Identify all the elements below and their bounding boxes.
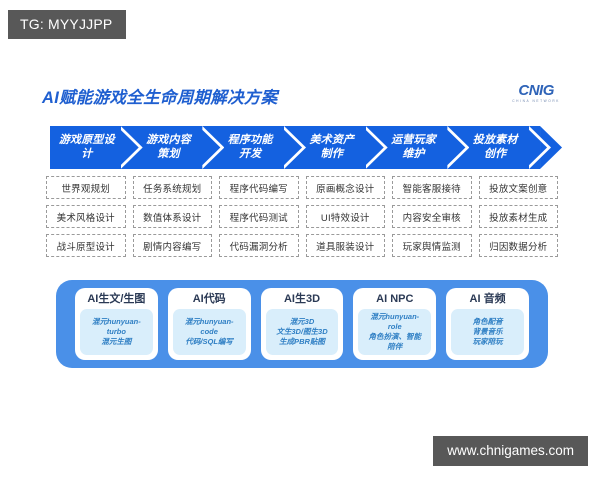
capability-cell[interactable]: 数值体系设计 <box>133 205 213 228</box>
phase-arrow-tip-icon <box>540 126 562 169</box>
ai-card-details: 混元3D文生3D/图生3D生成PBR贴图 <box>266 309 339 355</box>
phase-item-3[interactable]: 程序功能开发 <box>213 126 295 169</box>
ai-card-details: 混元hunyuan-code代码/SQL编写 <box>173 309 246 355</box>
capability-cell[interactable]: 投放素材生成 <box>479 205 559 228</box>
brand-logo-mark: CNIG <box>512 83 560 98</box>
capability-cell[interactable]: 道具服装设计 <box>306 234 386 257</box>
ai-card-4[interactable]: AI NPC 混元hunyuan-role角色扮演、智能陪伴 <box>353 288 436 360</box>
phase-item-6[interactable]: 投放素材创作 <box>458 126 540 169</box>
ai-card-1[interactable]: AI生文/生图 混元hunyuan-turbo混元生图 <box>75 288 158 360</box>
ai-card-title: AI生文/生图 <box>87 293 145 306</box>
ai-card-title: AI 音频 <box>470 293 506 306</box>
phase-item-4[interactable]: 美术资产制作 <box>295 126 377 169</box>
ai-card-title: AI代码 <box>193 293 226 306</box>
capability-cell[interactable]: 原画概念设计 <box>306 176 386 199</box>
ai-card-title: AI生3D <box>284 293 320 306</box>
capability-cell[interactable]: 美术风格设计 <box>46 205 126 228</box>
capability-cell[interactable]: 内容安全审核 <box>392 205 472 228</box>
ai-card-details: 角色配音背景音乐玩家陪玩 <box>451 309 524 355</box>
ai-card-details: 混元hunyuan-turbo混元生图 <box>80 309 153 355</box>
ai-card-2[interactable]: AI代码 混元hunyuan-code代码/SQL编写 <box>168 288 251 360</box>
phase-item-1[interactable]: 游戏原型设计 <box>50 126 132 169</box>
page-title: AI赋能游戏全生命周期解决方案 <box>42 84 278 108</box>
watermark-url: www.chnigames.com <box>433 436 588 467</box>
brand-logo-subtext: CHINA NETWORK <box>512 100 560 103</box>
capability-cell[interactable]: 战斗原型设计 <box>46 234 126 257</box>
capability-cell[interactable]: 代码漏洞分析 <box>219 234 299 257</box>
ai-model-band: AI生文/生图 混元hunyuan-turbo混元生图 AI代码 混元hunyu… <box>56 280 548 368</box>
phase-item-5[interactable]: 运营玩家维护 <box>377 126 459 169</box>
phase-arrow-strip: 游戏原型设计 游戏内容策划 程序功能开发 美术资产制作 运营玩家维护 投放素材创… <box>50 126 562 169</box>
watermark-tag: TG: MYYJJPP <box>8 10 126 39</box>
ai-card-3[interactable]: AI生3D 混元3D文生3D/图生3D生成PBR贴图 <box>261 288 344 360</box>
capability-cell[interactable]: 玩家舆情监测 <box>392 234 472 257</box>
capability-cell[interactable]: 智能客服接待 <box>392 176 472 199</box>
capability-cell[interactable]: UI特效设计 <box>306 205 386 228</box>
slide-header: AI赋能游戏全生命周期解决方案 CNIG CHINA NETWORK <box>42 84 570 110</box>
capability-cell[interactable]: 投放文案创意 <box>479 176 559 199</box>
ai-card-title: AI NPC <box>376 293 413 306</box>
ai-card-details: 混元hunyuan-role角色扮演、智能陪伴 <box>358 309 431 355</box>
brand-logo: CNIG CHINA NETWORK <box>512 83 560 103</box>
capability-cell[interactable]: 程序代码编写 <box>219 176 299 199</box>
capability-grid: 世界观规划 任务系统规划 程序代码编写 原画概念设计 智能客服接待 投放文案创意… <box>46 176 558 257</box>
capability-cell[interactable]: 世界观规划 <box>46 176 126 199</box>
capability-cell[interactable]: 剧情内容编写 <box>133 234 213 257</box>
capability-cell[interactable]: 任务系统规划 <box>133 176 213 199</box>
capability-cell[interactable]: 程序代码测试 <box>219 205 299 228</box>
capability-cell[interactable]: 归因数据分析 <box>479 234 559 257</box>
ai-card-5[interactable]: AI 音频 角色配音背景音乐玩家陪玩 <box>446 288 529 360</box>
slide-canvas: AI赋能游戏全生命周期解决方案 CNIG CHINA NETWORK 游戏原型设… <box>0 58 600 430</box>
phase-item-2[interactable]: 游戏内容策划 <box>132 126 214 169</box>
